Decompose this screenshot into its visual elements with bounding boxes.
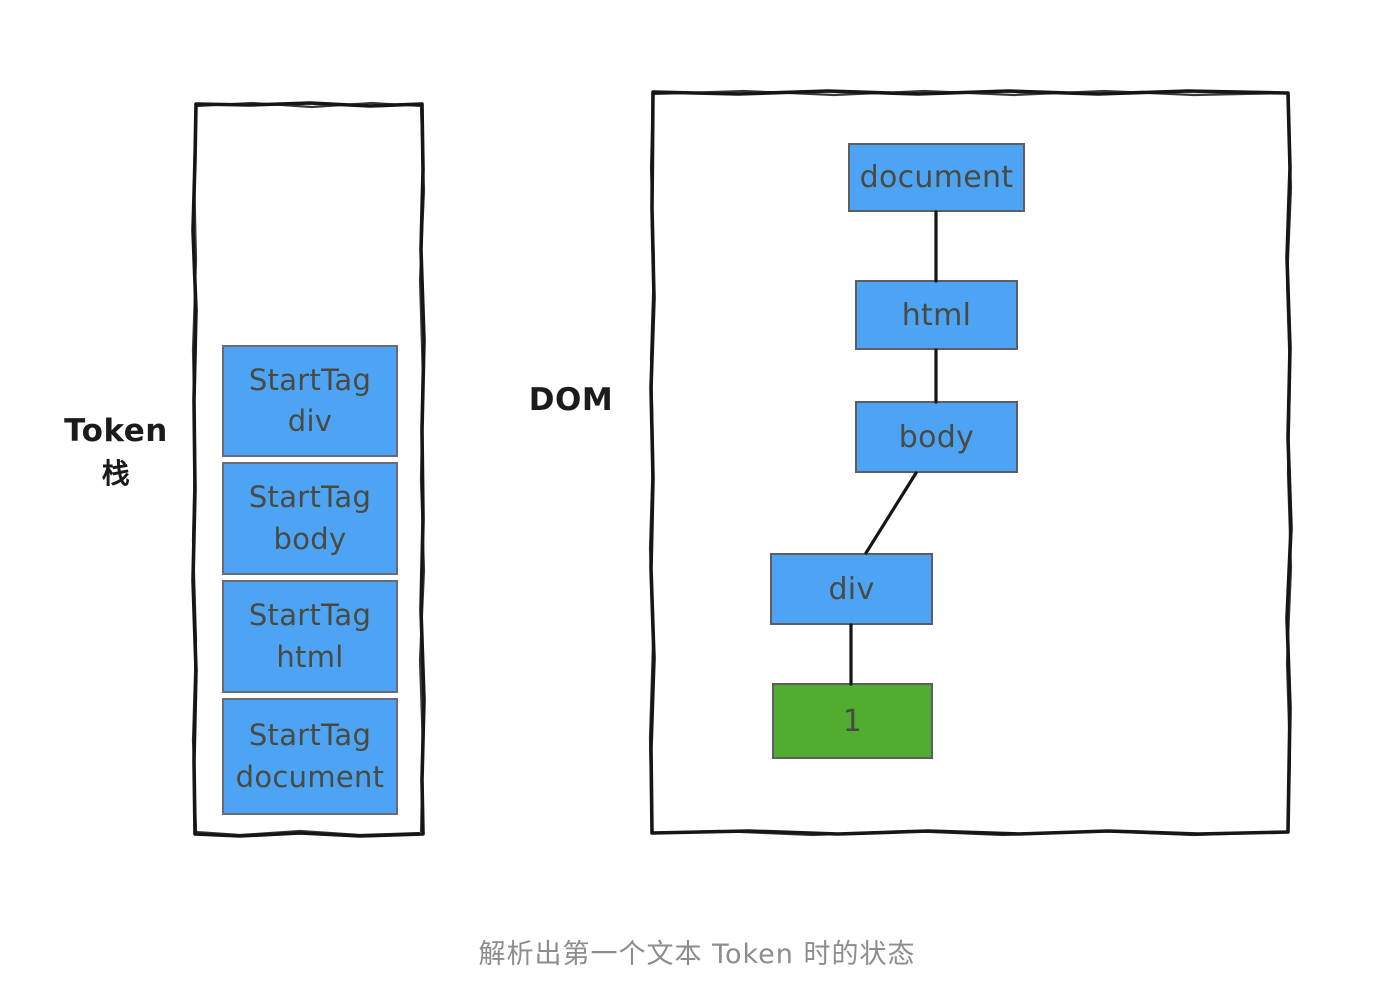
dom-node-body[interactable]: body [855, 401, 1018, 473]
dom-panel: document html body div 1 [648, 88, 1293, 838]
dom-title: DOM [500, 378, 642, 423]
token-kind: StartTag [249, 595, 371, 636]
token-tag: div [288, 401, 333, 442]
token-stack-item[interactable]: StartTag html [222, 580, 398, 693]
token-stack-title-main: Token [64, 413, 168, 449]
dom-node-label: document [860, 160, 1014, 195]
figure-caption: 解析出第一个文本 Token 时的状态 [0, 932, 1394, 971]
token-stack-title-sub: 栈 [42, 454, 190, 495]
dom-node-html[interactable]: html [855, 280, 1018, 350]
dom-node-div[interactable]: div [770, 553, 933, 625]
token-tag: html [276, 637, 343, 678]
dom-node-label: div [828, 572, 874, 607]
token-stack-title: Token 栈 [42, 364, 190, 539]
token-stack-panel: StartTag div StartTag body StartTag html… [190, 100, 428, 840]
dom-node-label: html [902, 298, 972, 333]
dom-node-document[interactable]: document [848, 143, 1025, 212]
token-kind: StartTag [249, 360, 371, 401]
token-kind: StartTag [249, 477, 371, 518]
token-tag: body [274, 519, 347, 560]
dom-node-label: 1 [843, 704, 862, 739]
token-tag: document [236, 757, 385, 798]
dom-node-label: body [899, 420, 974, 455]
token-stack-item[interactable]: StartTag div [222, 345, 398, 457]
token-kind: StartTag [249, 715, 371, 756]
dom-node-text-1[interactable]: 1 [772, 683, 933, 759]
token-stack-item[interactable]: StartTag body [222, 462, 398, 575]
token-stack-item[interactable]: StartTag document [222, 698, 398, 815]
